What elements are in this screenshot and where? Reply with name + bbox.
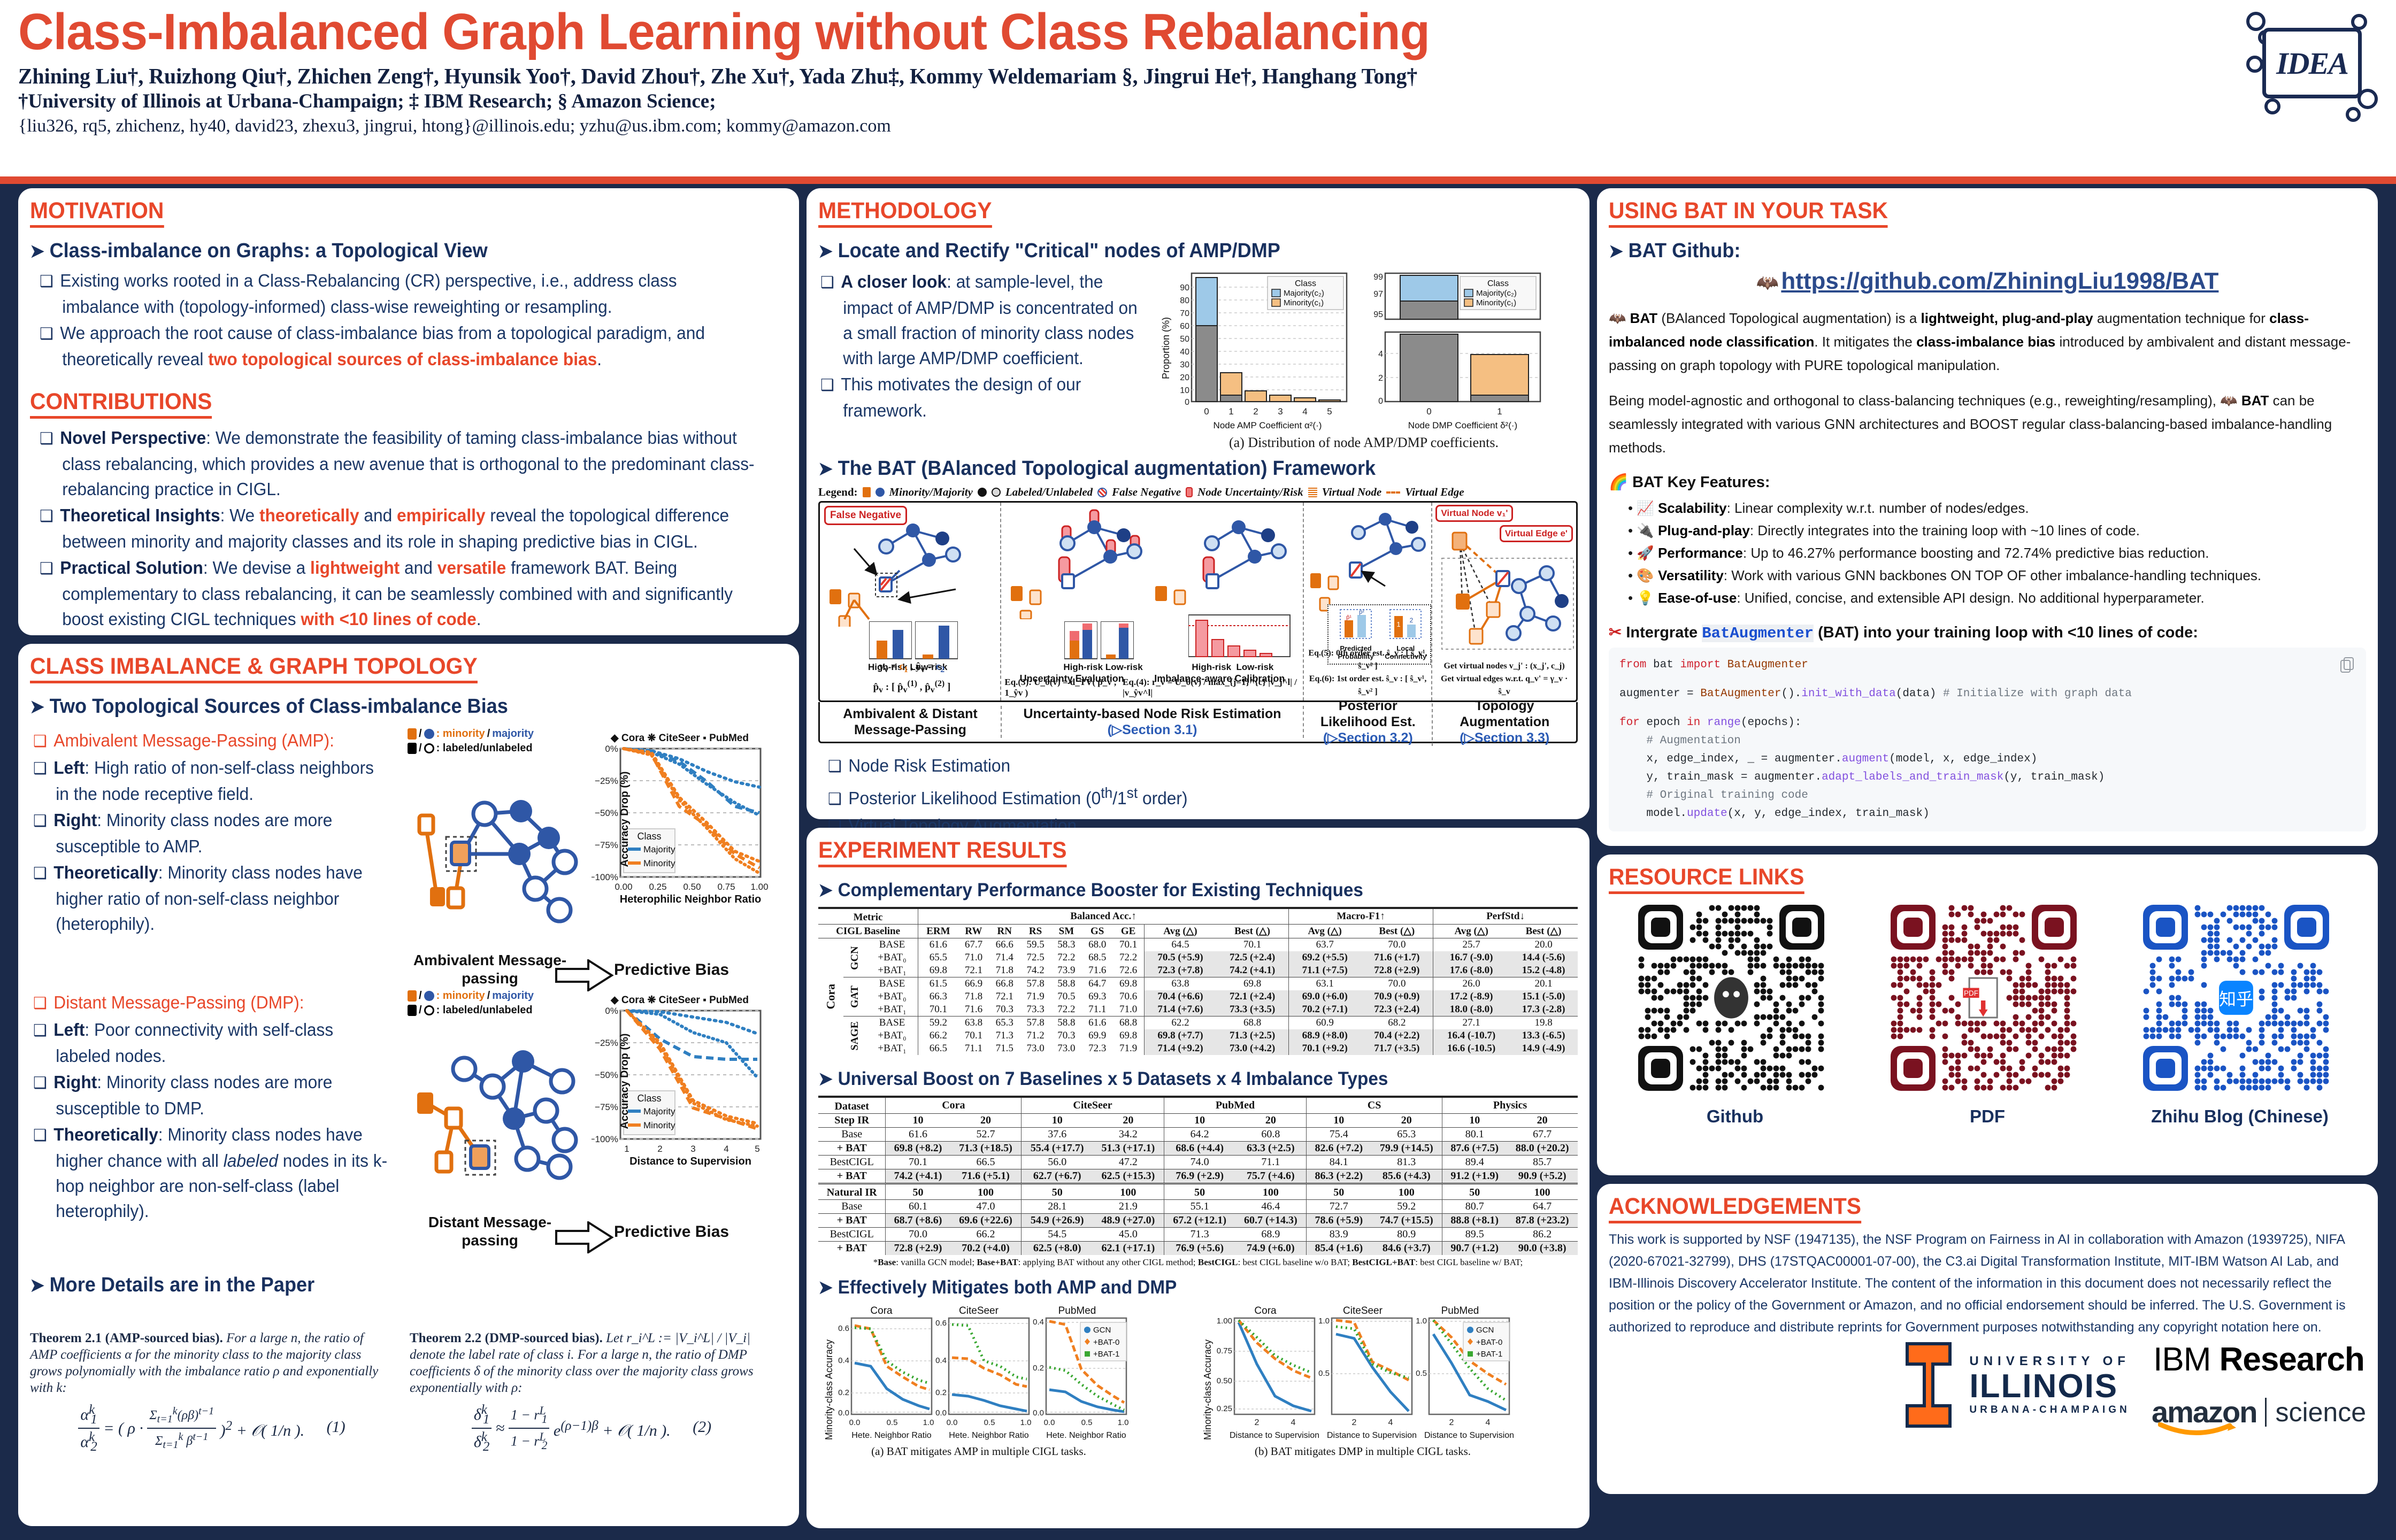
contribution-item-1: ❑Novel Perspective: We demonstrate the f… — [40, 425, 757, 502]
panel2-bar-labels: High-risk Low-risk — [1063, 662, 1142, 673]
svg-text:+BAT-1: +BAT-1 — [1093, 1350, 1119, 1359]
amazon-smile-icon — [2158, 1422, 2238, 1436]
stage-3: Posterior Likelihood Est. (▷Section 3.2) — [1304, 698, 1433, 746]
column-middle: METHODOLOGY ➤Locate and Rectify "Critica… — [807, 188, 1589, 1537]
experiments-sub2: ➤Universal Boost on 7 Baselines x 5 Data… — [818, 1067, 1540, 1091]
qr-github[interactable]: Github — [1636, 903, 1834, 1127]
svg-text:PDF: PDF — [1964, 989, 1978, 997]
svg-text:Majority(c₂): Majority(c₂) — [1284, 289, 1324, 298]
coefficient-distribution-figure: 908070 605040 302010 0 012 — [1161, 268, 1567, 451]
svg-text:+BAT-0: +BAT-0 — [1093, 1338, 1119, 1347]
dmp-bullet-left: ❑Left: Poor connectivity with self-class… — [33, 1017, 389, 1068]
github-link-row[interactable]: 🦇 https://github.com/ZhiningLiu1998/BAT — [1609, 268, 2366, 295]
mitigation-figures: Minority-class Accuracy Cora 0.60.40.20.… — [818, 1304, 1578, 1462]
framework-diagram: False Negative — [818, 501, 1578, 702]
table-subheader: Natural IR5010050100501005010050100 — [818, 1184, 1578, 1200]
svg-text:p̂²: p̂² — [1359, 609, 1364, 615]
svg-text:5: 5 — [1327, 406, 1332, 417]
code-line: from bat import BatAugmenter — [1619, 656, 2355, 674]
resources-heading: RESOURCE LINKS — [1609, 864, 1804, 894]
svg-text:0.4: 0.4 — [935, 1356, 947, 1365]
column-left: MOTIVATION ➤Class-imbalance on Graphs: a… — [18, 188, 799, 1535]
checkbox-icon: ❑ — [33, 865, 47, 882]
feature-scalability: • 📈 Scalability: Linear complexity w.r.t… — [1628, 497, 2366, 519]
using-bat-heading: USING BAT IN YOUR TASK — [1609, 198, 1888, 228]
coefficient-figure-caption: (a) Distribution of node AMP/DMP coeffic… — [1161, 435, 1567, 451]
stage-4: Topology Augmentation(▷Section 3.3) — [1433, 698, 1576, 746]
illinois-block-i-icon — [1898, 1341, 1960, 1429]
table-row: +BAT₁70.171.670.373.372.271.171.071.4 (+… — [818, 1003, 1578, 1017]
svg-text:Majority: Majority — [643, 1106, 675, 1116]
bat-icon: 🦇 — [1609, 310, 1626, 326]
svg-text:Minority: Minority — [643, 858, 675, 868]
svg-text:90: 90 — [1180, 283, 1189, 292]
framework-heading: ➤The BAT (BAlanced Topological augmentat… — [818, 456, 1540, 481]
svg-text:70: 70 — [1180, 309, 1189, 318]
copy-icon[interactable] — [2340, 657, 2354, 673]
svg-text:4: 4 — [1291, 1418, 1296, 1427]
chevron-right-icon: ➤ — [818, 1069, 833, 1089]
dmp-bullet-theory: ❑Theoretically: Minority class nodes hav… — [33, 1122, 389, 1223]
svg-text:0.75: 0.75 — [1217, 1346, 1232, 1356]
theorem-2-2: Theorem 2.2 (DMP-sourced bias). Let r_i^… — [410, 1330, 773, 1455]
feature-ease-of-use: • 💡 Ease-of-use: Unified, concise, and e… — [1628, 587, 2366, 609]
table-row: +BAT₀65.571.071.472.572.268.572.270.5 (+… — [818, 951, 1578, 964]
svg-text:60: 60 — [1180, 322, 1189, 331]
methodology-bullet-2: ❑This motivates the design of our framew… — [820, 372, 1147, 423]
qr-code-row: Github PDF PDF 知乎 Zhihu Blog (Chinese) — [1609, 903, 2366, 1127]
svg-text:−100%: −100% — [592, 872, 618, 882]
code-line: # Original training code — [1619, 787, 2355, 805]
svg-text:−25%: −25% — [595, 1038, 618, 1048]
svg-text:97: 97 — [1373, 290, 1383, 299]
chevron-right-icon: ➤ — [818, 459, 833, 479]
svg-text:0.4: 0.4 — [838, 1356, 849, 1365]
svg-text:20: 20 — [1180, 373, 1189, 382]
svg-text:2: 2 — [1255, 1418, 1260, 1427]
amp-bullet-left: ❑Left: High ratio of non-self-class neig… — [33, 755, 389, 806]
checkbox-icon: ❑ — [33, 1022, 47, 1039]
chevron-right-icon: ➤ — [818, 241, 833, 261]
svg-text:GCN: GCN — [1093, 1326, 1111, 1335]
svg-text:Class: Class — [1487, 279, 1509, 288]
svg-text:4: 4 — [1388, 1418, 1393, 1427]
amazon-science-logo: amazon science — [2152, 1395, 2366, 1429]
svg-text:p̂¹: p̂¹ — [1346, 614, 1351, 621]
motivation-heading: MOTIVATION — [30, 198, 164, 228]
scissors-icon: ✂ — [1609, 624, 1622, 641]
header-divider — [0, 176, 2396, 184]
svg-text:Hete. Neighbor Ratio: Hete. Neighbor Ratio — [949, 1431, 1029, 1440]
github-url-link[interactable]: https://github.com/ZhiningLiu1998/BAT — [1781, 268, 2218, 294]
rainbow-icon: 🌈 — [1609, 474, 1628, 491]
svg-text:2: 2 — [1378, 374, 1383, 383]
svg-text:Accuracy Drop (%): Accuracy Drop (%) — [619, 1034, 631, 1129]
artist-palette-icon: 🎨 — [1637, 567, 1654, 583]
acknowledgements-text: This work is supported by NSF (1947135),… — [1609, 1229, 2366, 1338]
theorem-2-1: Theorem 2.1 (AMP-sourced bias). For a la… — [30, 1330, 394, 1455]
table-row: + BAT68.7 (+8.6)69.6 (+22.6)54.9 (+26.9)… — [818, 1214, 1578, 1228]
svg-text:Distance to Supervision: Distance to Supervision — [629, 1156, 751, 1167]
svg-text:0: 0 — [1204, 406, 1209, 417]
svg-text:1: 1 — [1397, 620, 1401, 628]
experiments-card: EXPERIMENT RESULTS ➤Complementary Perfor… — [807, 828, 1589, 1528]
chevron-right-icon: ➤ — [30, 697, 44, 717]
svg-text:Node DMP Coefficient δ²(·): Node DMP Coefficient δ²(·) — [1408, 420, 1517, 430]
svg-text:0: 0 — [1378, 397, 1383, 406]
method-step-1: ❑Node Risk Estimation — [828, 753, 1548, 779]
svg-text:95: 95 — [1373, 310, 1383, 319]
chevron-right-icon: ➤ — [818, 1277, 833, 1298]
code-line: y, train_mask = augmenter.adapt_labels_a… — [1619, 768, 2355, 787]
checkbox-icon: ❑ — [40, 430, 53, 448]
contributions-heading: CONTRIBUTIONS — [30, 389, 212, 419]
code-line: # Augmentation — [1619, 732, 2355, 750]
panel1-notes: yv = c1 , ŷv = c2 p̂v : [ p̂v(1) , p̂v(2… — [825, 660, 999, 697]
table-row: GATBASE61.566.966.857.858.864.769.863.86… — [818, 977, 1578, 991]
svg-text:Minority(c₁): Minority(c₁) — [1284, 298, 1324, 307]
amp-bullet-right: ❑Right: Minority class nodes are more su… — [33, 807, 389, 859]
checkbox-icon: ❑ — [33, 995, 47, 1012]
electric-plug-icon: 🔌 — [1637, 522, 1654, 538]
table-row: Base60.147.028.121.955.146.472.759.280.7… — [818, 1200, 1578, 1214]
stage-2: Uncertainty-based Node Risk Estimation(▷… — [1002, 706, 1304, 738]
idea-logo-text: IDEA — [2262, 28, 2362, 98]
svg-text:0.0: 0.0 — [1033, 1408, 1044, 1418]
results-table-1: Metric Balanced Acc.↑ Macro-F1↑ PerfStd↓… — [818, 907, 1578, 1055]
svg-text:2: 2 — [1410, 617, 1414, 624]
results-table-note: *Base: vanilla GCN model; Base+BAT: appl… — [818, 1257, 1578, 1268]
svg-text:4: 4 — [1302, 406, 1307, 417]
feature-performance: • 🚀 Performance: Up to 46.27% performanc… — [1628, 542, 2366, 564]
svg-text:Distance to Supervision: Distance to Supervision — [1230, 1431, 1319, 1440]
svg-text:4: 4 — [1486, 1418, 1491, 1427]
panel4-notes: Get virtual nodes v_j' : (x_j', c_j) Get… — [1434, 660, 1574, 698]
svg-text:−75%: −75% — [595, 1102, 618, 1112]
university-of-illinois-logo: UNIVERSITY OF ILLINOIS URBANA-CHAMPAIGN — [1898, 1341, 2130, 1429]
table-row: + BAT74.2 (+4.1)71.6 (+5.1)62.7 (+6.7)62… — [818, 1169, 1578, 1184]
idea-logo: IDEA — [2246, 9, 2375, 137]
results-table-2: Dataset Cora CiteSeer PubMed CS Physics … — [818, 1096, 1578, 1255]
experiments-sub3: ➤Effectively Mitigates both AMP and DMP — [818, 1275, 1540, 1300]
svg-text:0.00: 0.00 — [615, 882, 632, 892]
ibm-amazon-logos: IBM Research amazon science — [2152, 1341, 2366, 1429]
method-step-2: ❑Posterior Likelihood Estimation (0th/1s… — [828, 780, 1548, 812]
chevron-right-icon: ➤ — [30, 1275, 44, 1296]
svg-text:PubMed: PubMed — [1058, 1305, 1096, 1316]
svg-text:Class: Class — [637, 1093, 661, 1104]
github-qr-icon[interactable] — [1636, 903, 1834, 1100]
svg-text:CiteSeer: CiteSeer — [959, 1305, 999, 1316]
framework-panel-4: Virtual Node v₁' Virtual Edge e' — [1432, 503, 1576, 700]
checkbox-icon: ❑ — [33, 733, 47, 750]
email-list: {liu326, rq5, zhichenz, hy40, david23, z… — [18, 115, 2104, 137]
panel2-risk-bars — [1064, 621, 1134, 661]
svg-text:−50%: −50% — [595, 808, 618, 818]
panel2-avg-bars: Avg. — [1188, 610, 1295, 664]
svg-text:+BAT-0: +BAT-0 — [1476, 1338, 1502, 1347]
light-bulb-icon: 💡 — [1637, 590, 1654, 606]
svg-text:PubMed: PubMed — [1441, 1305, 1479, 1316]
checkbox-icon: ❑ — [828, 790, 842, 808]
svg-text:40: 40 — [1180, 348, 1189, 357]
svg-text:0.0: 0.0 — [849, 1418, 861, 1427]
bat-description-1: 🦇 BAT (BAlanced Topological augmentation… — [1609, 306, 2366, 377]
svg-text:0.5: 0.5 — [1416, 1369, 1427, 1378]
svg-text:4: 4 — [1378, 350, 1383, 359]
svg-text:0%: 0% — [605, 1006, 618, 1016]
svg-text:0.2: 0.2 — [935, 1388, 947, 1397]
motivation-card: MOTIVATION ➤Class-imbalance on Graphs: a… — [18, 188, 799, 635]
svg-text:0.6: 0.6 — [838, 1324, 849, 1333]
rocket-icon: 🚀 — [1637, 545, 1654, 561]
feature-plug-and-play: • 🔌 Plug-and-play: Directly integrates i… — [1628, 519, 2366, 542]
github-subheading: ➤BAT Github: — [1609, 238, 2328, 264]
svg-text:Majority: Majority — [643, 844, 675, 854]
code-block[interactable]: from bat import BatAugmenteraugmenter = … — [1609, 648, 2366, 831]
svg-text:0.0: 0.0 — [947, 1418, 958, 1427]
svg-text:CiteSeer: CiteSeer — [1343, 1305, 1383, 1316]
svg-text:1.0: 1.0 — [923, 1418, 934, 1427]
svg-text:0.50: 0.50 — [1217, 1376, 1232, 1385]
chevron-right-icon: ➤ — [818, 880, 833, 900]
framework-panel-2: Avg. High-risk Low-risk High-risk Low-ri… — [1001, 503, 1304, 700]
chevron-right-icon: ➤ — [30, 241, 44, 261]
dmp-accuracy-drop-chart: ◆ Cora ❋ CiteSeer ▪ PubMed 0%−25% −50%−7… — [592, 994, 768, 1183]
amp-accuracy-drop-chart: ◆ Cora ❋ CiteSeer ▪ PubMed 0%−25% −50%−7… — [592, 732, 768, 921]
svg-text:(b) BAT mitigates DMP in multi: (b) BAT mitigates DMP in multiple CIGL t… — [1255, 1445, 1471, 1458]
svg-text:3: 3 — [690, 1144, 695, 1154]
svg-text:Hete. Neighbor Ratio: Hete. Neighbor Ratio — [1046, 1431, 1126, 1440]
using-bat-card: USING BAT IN YOUR TASK ➤BAT Github: 🦇 ht… — [1597, 188, 2378, 846]
dmp-bullet-right: ❑Right: Minority class nodes are more su… — [33, 1069, 389, 1121]
right-arrow-icon — [555, 959, 614, 991]
svg-text:1: 1 — [1228, 406, 1233, 417]
svg-text:0.25: 0.25 — [1217, 1404, 1232, 1413]
table-row: +BAT₁66.571.171.573.073.072.371.971.4 (+… — [818, 1042, 1578, 1055]
svg-text:2: 2 — [1253, 406, 1258, 417]
column-right: USING BAT IN YOUR TASK ➤BAT Github: 🦇 ht… — [1597, 188, 2378, 1503]
svg-text:Heterophilic Neighbor Ratio: Heterophilic Neighbor Ratio — [620, 894, 761, 905]
svg-text:0.5: 0.5 — [887, 1418, 898, 1427]
svg-text:1.00: 1.00 — [1217, 1316, 1232, 1326]
svg-text:99: 99 — [1373, 273, 1383, 282]
svg-text:4: 4 — [724, 1144, 728, 1154]
page-title: Class-Imbalanced Graph Learning without … — [18, 4, 1846, 60]
amp-legend: / : minority/majority / : labeled/unlabe… — [408, 728, 534, 754]
checkbox-icon: ❑ — [820, 274, 834, 291]
amp-title: ❑Ambivalent Message-Passing (AMP): — [33, 728, 389, 754]
code-line: model.update(x, y, edge_index, train_mas… — [1619, 805, 2355, 823]
qr-pdf[interactable]: PDF PDF — [1888, 903, 2086, 1127]
dmp-diagram-caption: Distant Message-passing — [410, 1213, 570, 1250]
code-line: augmenter = BatAugmenter().init_with_dat… — [1619, 685, 2355, 703]
methodology-card: METHODOLOGY ➤Locate and Rectify "Critica… — [807, 188, 1589, 819]
svg-text:−75%: −75% — [595, 840, 618, 850]
checkbox-icon: ❑ — [40, 507, 53, 525]
svg-text:Cora: Cora — [1254, 1305, 1277, 1316]
svg-text:知乎: 知乎 — [2219, 989, 2253, 1009]
svg-text:1.00: 1.00 — [750, 882, 768, 892]
svg-text:0.50: 0.50 — [683, 882, 701, 892]
table-row: SAGEBASE59.263.865.357.858.861.668.862.2… — [818, 1017, 1578, 1030]
svg-text:5: 5 — [755, 1144, 759, 1154]
svg-text:0.2: 0.2 — [1033, 1364, 1044, 1373]
qr-github-label: Github — [1636, 1106, 1834, 1127]
framework-stage-bar: Ambivalent & Distant Message-Passing Unc… — [818, 702, 1578, 743]
svg-text:0.4: 0.4 — [1033, 1318, 1044, 1327]
svg-text:50: 50 — [1180, 335, 1189, 344]
code-line: x, edge_index, _ = augmenter.augment(mod… — [1619, 750, 2355, 768]
motivation-highlight: two topological sources of class-imbalan… — [208, 349, 597, 369]
framework-legend: Legend: Minority/Majority Labeled/Unlabe… — [818, 486, 1578, 499]
features-list: • 📈 Scalability: Linear complexity w.r.t… — [1614, 497, 2366, 609]
checkbox-icon: ❑ — [40, 560, 53, 577]
dmp-graph-diagram — [404, 1030, 597, 1207]
bat-mitigates-dmp-figure: Minority-class Accuracy Cora 1.000.750.5… — [1197, 1304, 1571, 1462]
panel1-risk-bars — [869, 621, 958, 661]
checkbox-icon: ❑ — [33, 1127, 47, 1144]
svg-text:Class: Class — [637, 831, 661, 842]
checkbox-icon: ❑ — [33, 812, 47, 830]
chevron-right-icon: ➤ — [1609, 241, 1623, 261]
ibm-research-logo: IBM Research — [2152, 1341, 2366, 1379]
svg-text:Distance to Supervision: Distance to Supervision — [1424, 1431, 1514, 1440]
acknowledgements-card: ACKNOWLEDGEMENTS This work is supported … — [1597, 1184, 2378, 1494]
checkbox-icon: ❑ — [33, 760, 47, 777]
theorem-2-2-equation: δk1 δk2 ≈ 1 − rL1 1 − rL2 e(ρ−1)β + 𝒪( 1… — [410, 1402, 773, 1455]
svg-text:Hete. Neighbor Ratio: Hete. Neighbor Ratio — [851, 1431, 932, 1440]
table-row: Base61.652.737.634.264.260.875.465.380.1… — [818, 1128, 1578, 1142]
dmp-legend: / : minority/majority / : labeled/unlabe… — [408, 990, 534, 1017]
svg-text:0.0: 0.0 — [935, 1408, 947, 1418]
svg-text:Minority: Minority — [643, 1120, 675, 1130]
checkbox-icon: ❑ — [40, 273, 53, 290]
theorem-2-1-equation: αk1 αk2 = ( ρ · Σt=1k(ρβ)t−1 Σt=1k βt−1 … — [30, 1402, 394, 1455]
experiments-sub1: ➤Complementary Performance Booster for E… — [818, 878, 1540, 903]
table-row: +BAT₀66.371.872.171.970.569.370.670.4 (+… — [818, 990, 1578, 1003]
feature-versatility: • 🎨 Versatility: Work with various GNN b… — [1628, 564, 2366, 587]
zhihu-qr-icon[interactable]: 知乎 — [2141, 903, 2339, 1100]
svg-text:Minority-class Accuracy: Minority-class Accuracy — [824, 1339, 834, 1440]
table-row: BestCIGL70.066.254.545.071.368.983.980.9… — [818, 1228, 1578, 1242]
checkbox-icon: ❑ — [33, 1074, 47, 1092]
svg-text:0.5: 0.5 — [984, 1418, 995, 1427]
svg-text:0: 0 — [1185, 398, 1189, 407]
code-line: for epoch in range(epochs): — [1619, 714, 2355, 732]
experiments-heading: EXPERIMENT RESULTS — [818, 837, 1067, 867]
svg-text:0.5: 0.5 — [1081, 1418, 1093, 1427]
svg-text:1: 1 — [624, 1144, 629, 1154]
svg-text:0.5: 0.5 — [1318, 1369, 1330, 1378]
svg-text:0.0: 0.0 — [1044, 1418, 1055, 1427]
panel2-bar-labels-2: High-risk Low-risk — [1192, 662, 1273, 673]
svg-text:0.6: 0.6 — [935, 1319, 947, 1328]
svg-text:Class: Class — [1295, 279, 1316, 288]
affiliation-list: †University of Illinois at Urbana-Champa… — [18, 90, 2104, 113]
bat-icon: 🦇 — [2220, 392, 2237, 409]
svg-text:3: 3 — [1278, 406, 1283, 417]
table-row: + BAT72.8 (+2.9)70.2 (+4.0)62.5 (+8.0)62… — [818, 1242, 1578, 1256]
table-row: +BAT₁69.872.171.874.273.971.672.672.3 (+… — [818, 964, 1578, 977]
table-row: CoraGCNBASE61.667.766.659.558.368.070.16… — [818, 938, 1578, 952]
amp-arrow-target: Predictive Bias — [614, 961, 729, 979]
table-row: +BAT₀66.270.171.371.270.369.969.869.8 (+… — [818, 1029, 1578, 1042]
motivation-bullet-2: ❑We approach the root cause of class-imb… — [40, 320, 757, 372]
methodology-heading: METHODOLOGY — [818, 198, 992, 228]
svg-text:0.25: 0.25 — [649, 882, 666, 892]
svg-text:1: 1 — [1497, 406, 1502, 417]
amp-bullet-theory: ❑Theoretically: Minority class nodes hav… — [33, 860, 389, 936]
svg-text:Node AMP Coefficient α²(·): Node AMP Coefficient α²(·) — [1214, 420, 1322, 430]
bat-icon: 🦇 — [1756, 273, 1779, 293]
checkbox-icon: ❑ — [40, 325, 53, 343]
amp-graph-diagram — [404, 768, 597, 945]
panel3-equations: Eq.(5): 0th order est. ŝ_v : [ ŝ_v¹, ŝ_v… — [1306, 647, 1430, 698]
methodology-bullet-1: ❑A closer look: at sample-level, the imp… — [820, 269, 1147, 371]
stage-1: Ambivalent & Distant Message-Passing — [820, 706, 1002, 738]
svg-text:10: 10 — [1180, 386, 1189, 395]
bat-mitigates-amp-figure: Minority-class Accuracy Cora 0.60.40.20.… — [818, 1304, 1193, 1462]
acknowledgements-heading: ACKNOWLEDGEMENTS — [1609, 1193, 1861, 1223]
svg-text:2: 2 — [1449, 1418, 1454, 1427]
bat-description-2: Being model-agnostic and orthogonal to c… — [1609, 389, 2366, 459]
svg-text:0: 0 — [1426, 406, 1431, 417]
virtual-node-tag: Virtual Node v₁' — [1435, 505, 1513, 522]
qr-pdf-label: PDF — [1888, 1106, 2086, 1127]
svg-text:(a) BAT mitigates AMP in multi: (a) BAT mitigates AMP in multiple CIGL t… — [871, 1445, 1086, 1458]
code-intro: ✂ Intergrate BatAugmenter (BAT) into you… — [1609, 623, 2366, 642]
features-title: 🌈 BAT Key Features: — [1609, 473, 2366, 491]
table-row: BestCIGL70.166.556.047.274.071.184.181.3… — [818, 1156, 1578, 1169]
checkbox-icon: ❑ — [820, 376, 834, 394]
svg-text:2: 2 — [657, 1144, 662, 1154]
pdf-qr-icon[interactable]: PDF — [1888, 903, 2086, 1100]
svg-text:Minority-class Accuracy: Minority-class Accuracy — [1202, 1339, 1213, 1440]
topology-heading: CLASS IMBALANCE & GRAPH TOPOLOGY — [30, 653, 478, 683]
svg-text:0%: 0% — [605, 744, 618, 754]
svg-text:Cora: Cora — [870, 1305, 893, 1316]
qr-zhihu[interactable]: 知乎 Zhihu Blog (Chinese) — [2141, 903, 2339, 1127]
svg-text:2: 2 — [1352, 1418, 1357, 1427]
svg-text:0.0: 0.0 — [838, 1408, 849, 1418]
contribution-item-3: ❑Practical Solution: We devise a lightwe… — [40, 555, 757, 632]
svg-text:0.75: 0.75 — [717, 882, 735, 892]
dmp-arrow-target: Predictive Bias — [614, 1223, 729, 1241]
svg-text:1.0: 1.0 — [1416, 1316, 1427, 1326]
svg-text:80: 80 — [1180, 296, 1189, 305]
svg-text:Majority(c₂): Majority(c₂) — [1476, 289, 1517, 298]
poster-header: Class-Imbalanced Graph Learning without … — [0, 0, 2396, 182]
svg-text:−50%: −50% — [595, 1070, 618, 1080]
amp-diagram-caption: Ambivalent Message-passing — [410, 951, 570, 988]
svg-text:Minority(c₁): Minority(c₁) — [1476, 298, 1516, 307]
dmp-title: ❑Distant Message-Passing (DMP): — [33, 990, 389, 1016]
framework-panel-3: p̂¹p̂² Predicted Probability 12 Local Co… — [1304, 503, 1432, 700]
topology-card: CLASS IMBALANCE & GRAPH TOPOLOGY ➤Two To… — [18, 644, 799, 1526]
svg-text:Distance to Supervision: Distance to Supervision — [1327, 1431, 1417, 1440]
svg-text:1.0: 1.0 — [1118, 1418, 1129, 1427]
svg-text:1.0: 1.0 — [1020, 1418, 1032, 1427]
svg-text:Accuracy Drop (%): Accuracy Drop (%) — [619, 772, 631, 867]
topology-subheading: ➤Two Topological Sources of Class-imbala… — [30, 694, 749, 719]
svg-text:+BAT-1: +BAT-1 — [1476, 1350, 1502, 1359]
motivation-bullet-1: ❑Existing works rooted in a Class-Rebala… — [40, 268, 757, 319]
methodology-subheading: ➤Locate and Rectify "Critical" nodes of … — [818, 238, 1540, 264]
table-row: + BAT69.8 (+8.2)71.3 (+18.5)55.4 (+17.7)… — [818, 1142, 1578, 1156]
chart-increasing-icon: 📈 — [1637, 500, 1654, 516]
resources-card: RESOURCE LINKS Github PDF PDF 知乎 Zhihu B… — [1597, 854, 2378, 1175]
